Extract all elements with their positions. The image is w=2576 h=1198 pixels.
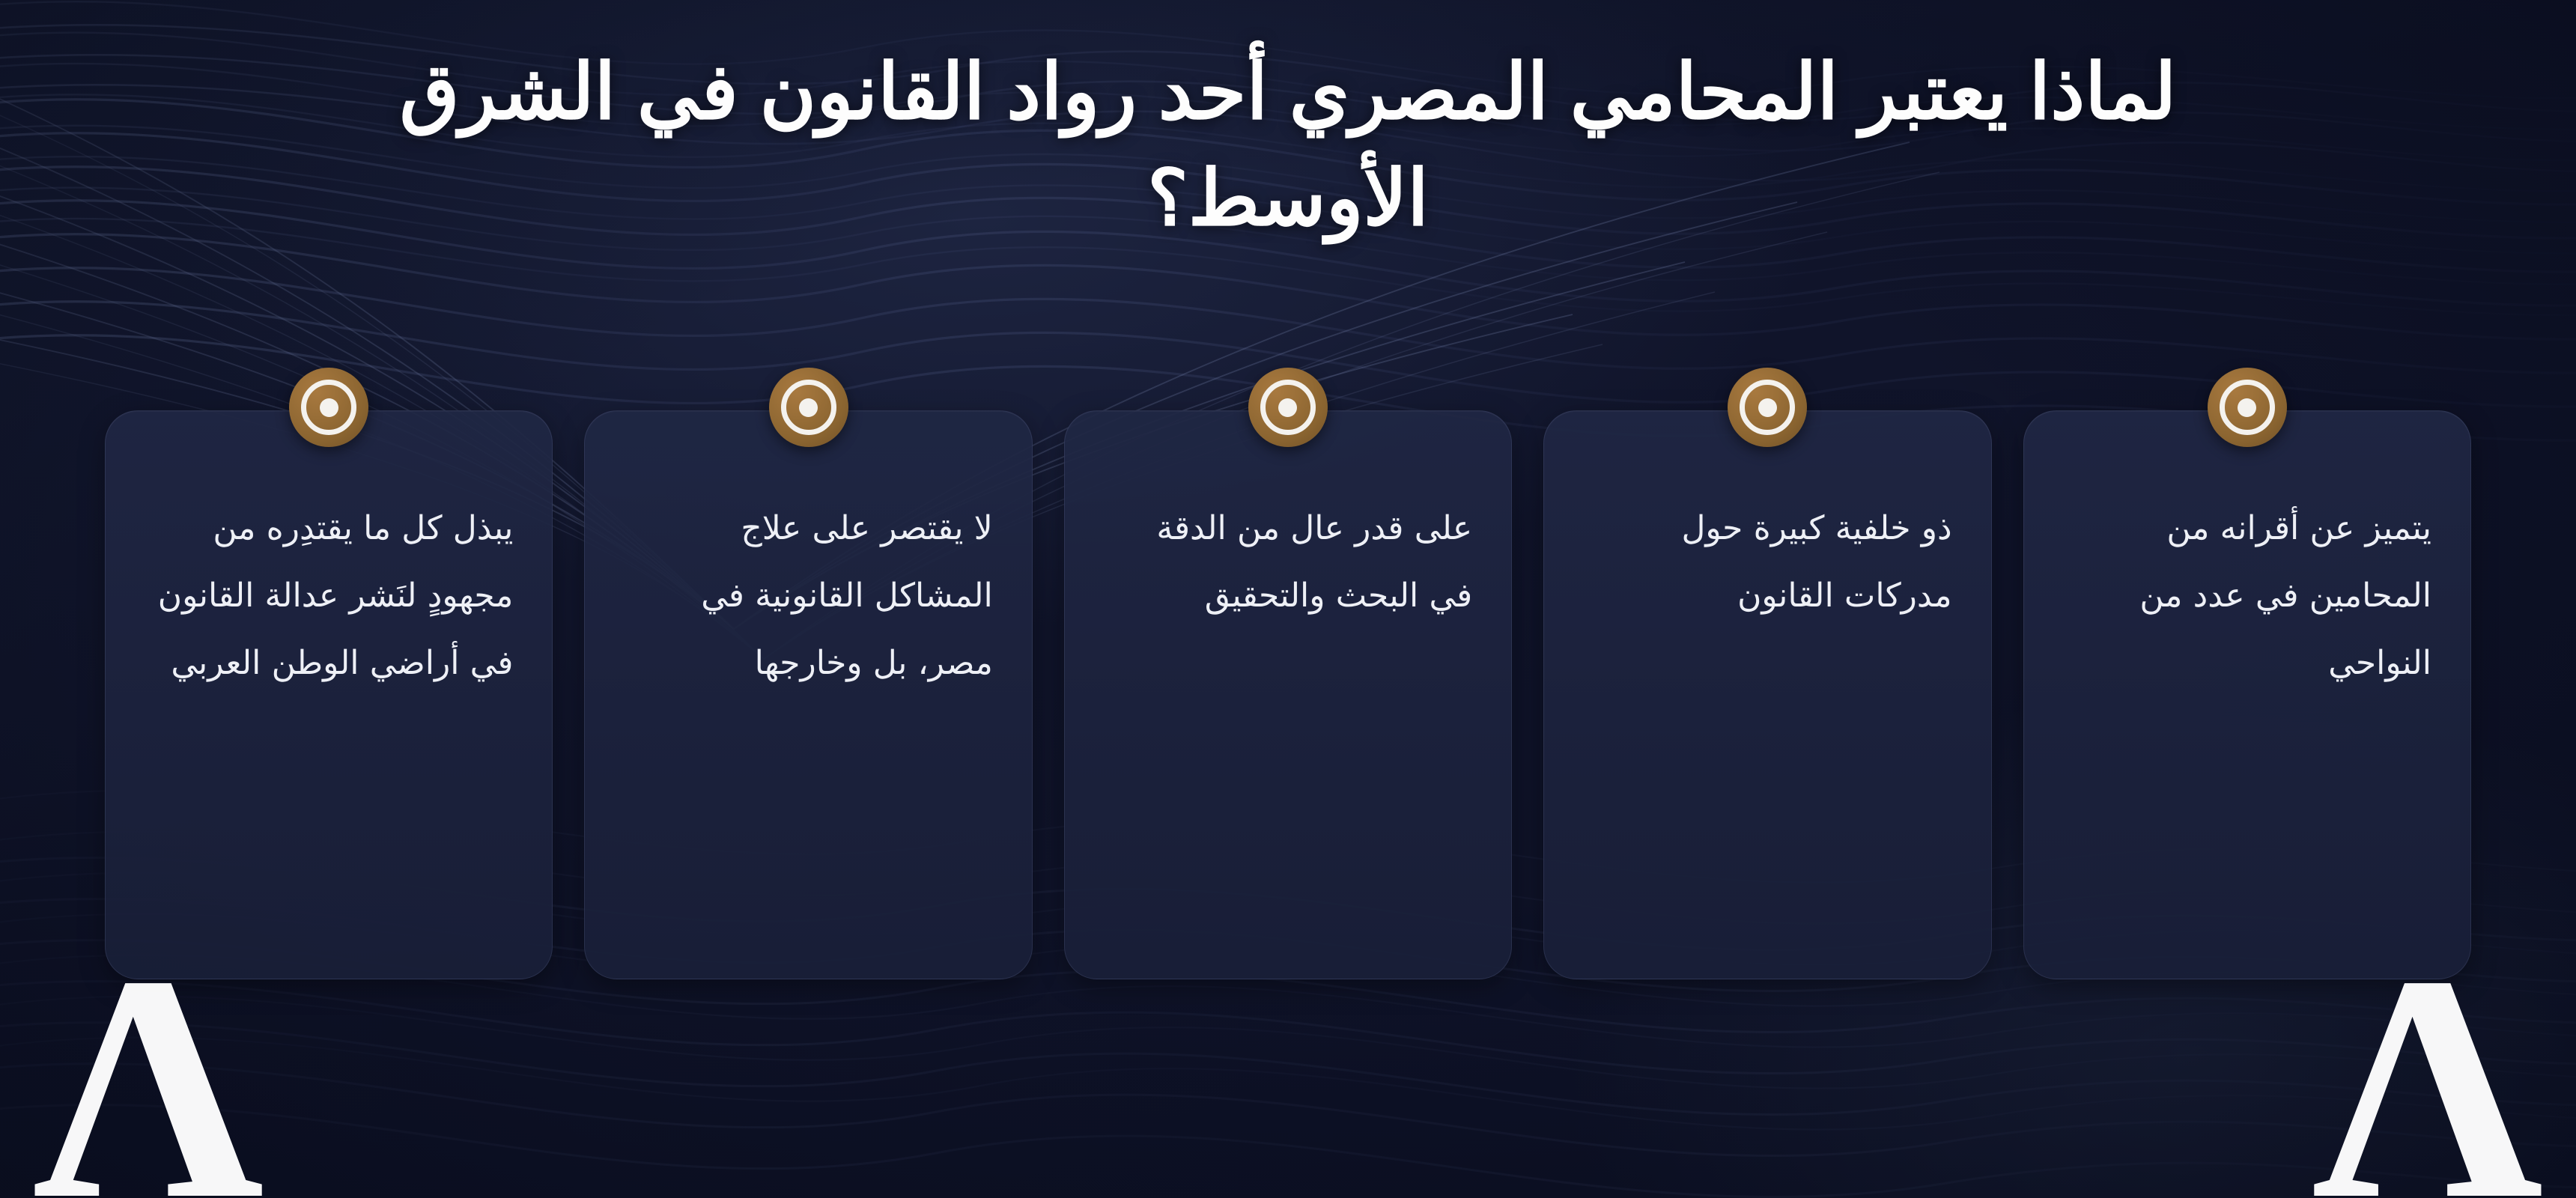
badge-dot [320, 398, 338, 417]
target-dot-icon [1728, 368, 1807, 447]
feature-card-text: يبذل كل ما يقتدِره من مجهودٍ لنَشر عدالة… [145, 495, 513, 698]
badge-ring [301, 380, 356, 435]
decorative-glyph-left: Λ [33, 956, 264, 1198]
feature-card-3[interactable]: على قدر عال من الدقة في البحث والتحقيق [1064, 410, 1512, 979]
feature-card-text: ذو خلفية كبيرة حول مدركات القانون [1583, 495, 1951, 630]
feature-card-text: لا يقتصر على علاج المشاكل القانونية في م… [624, 495, 992, 698]
slide-canvas: لماذا يعتبر المحامي المصري أحد رواد القا… [0, 0, 2576, 1198]
feature-card-4[interactable]: لا يقتصر على علاج المشاكل القانونية في م… [584, 410, 1032, 979]
badge-dot [1758, 398, 1777, 417]
badge-ring [1260, 380, 1316, 435]
target-dot-icon [1248, 368, 1328, 447]
badge-dot [1278, 398, 1297, 417]
feature-card-text: على قدر عال من الدقة في البحث والتحقيق [1104, 495, 1472, 630]
decorative-glyph-right: Λ [2312, 956, 2543, 1198]
target-dot-icon [2208, 368, 2287, 447]
target-dot-icon [769, 368, 848, 447]
feature-card-1[interactable]: يتميز عن أقرانه من المحامين في عدد من ال… [2023, 410, 2471, 979]
target-dot-icon [289, 368, 368, 447]
badge-dot [799, 398, 818, 417]
badge-ring [2220, 380, 2275, 435]
page-title: لماذا يعتبر المحامي المصري أحد رواد القا… [0, 39, 2576, 252]
badge-dot [2238, 398, 2256, 417]
feature-card-row: يتميز عن أقرانه من المحامين في عدد من ال… [105, 410, 2471, 979]
badge-ring [781, 380, 836, 435]
feature-card-2[interactable]: ذو خلفية كبيرة حول مدركات القانون [1543, 410, 1991, 979]
badge-ring [1740, 380, 1795, 435]
feature-card-text: يتميز عن أقرانه من المحامين في عدد من ال… [2063, 495, 2431, 698]
feature-card-5[interactable]: يبذل كل ما يقتدِره من مجهودٍ لنَشر عدالة… [105, 410, 553, 979]
